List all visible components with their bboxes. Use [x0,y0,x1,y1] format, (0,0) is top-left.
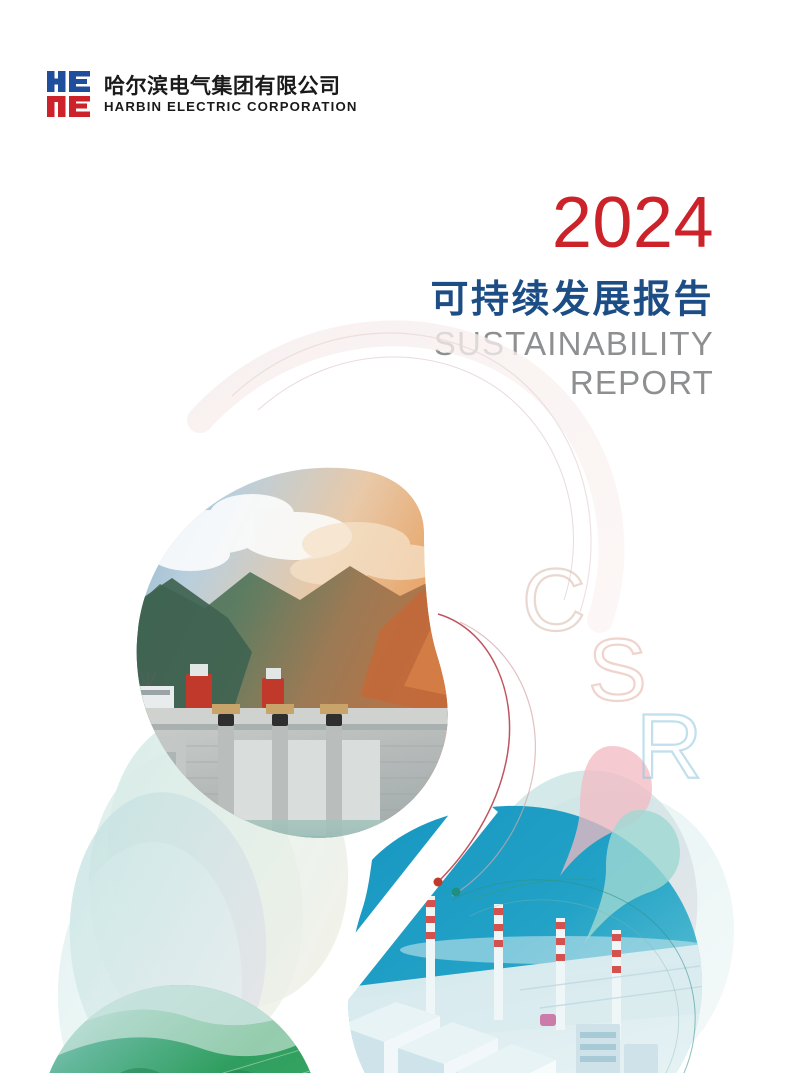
company-name-en: HARBIN ELECTRIC CORPORATION [104,100,358,114]
report-year: 2024 [294,188,714,259]
company-brand: 哈尔滨电气集团有限公司 HARBIN ELECTRIC CORPORATION [47,70,358,118]
company-name-cn: 哈尔滨电气集团有限公司 [104,76,358,98]
company-name-block: 哈尔滨电气集团有限公司 HARBIN ELECTRIC CORPORATION [104,74,358,114]
cover-artwork: C S R [0,300,790,1073]
report-cover-page: 哈尔滨电气集团有限公司 HARBIN ELECTRIC CORPORATION … [0,0,790,1073]
harbin-electric-logo-icon [47,70,91,118]
